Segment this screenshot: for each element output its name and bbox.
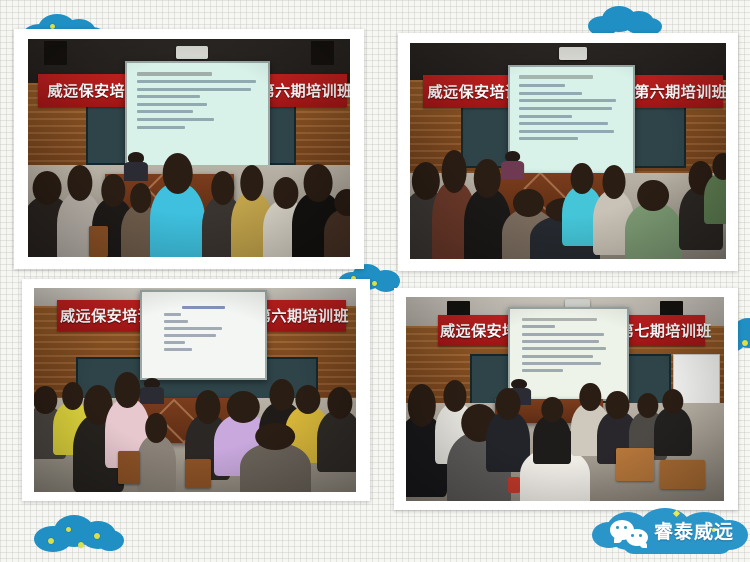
banner-right-bottom-left: 第六期培训班 <box>253 300 346 331</box>
audience-member <box>533 415 571 464</box>
projector <box>176 46 208 59</box>
photo-card-top-left[interactable]: 威远保安培训 第六期培训班 <box>14 29 364 269</box>
cloud-dot <box>372 281 377 286</box>
collage-canvas: 威远保安培训 第六期培训班 <box>0 0 750 562</box>
wechat-account-badge[interactable]: 睿泰威远 <box>592 508 750 556</box>
photo-image-top-left: 威远保安培训 第六期培训班 <box>28 39 350 257</box>
photo-image-bottom-right: 威远保安培训 第七期培训班 <box>406 297 724 501</box>
speaker-box <box>311 41 334 65</box>
projection-screen-top-right <box>508 65 635 179</box>
projection-screen-top-left <box>125 61 271 174</box>
cloud-dot <box>66 527 71 532</box>
projection-screen-bottom-left <box>140 290 266 380</box>
audience-member <box>317 410 356 471</box>
cloud-dot <box>742 340 748 346</box>
audience-member <box>137 435 176 492</box>
photo-card-top-right[interactable]: 威远保安培训 第六期培训班 <box>398 33 738 271</box>
presenter <box>505 151 521 177</box>
audience-member <box>654 407 692 456</box>
audience-member <box>240 443 311 492</box>
cloud-dot <box>78 542 84 548</box>
wechat-icon <box>610 520 650 546</box>
audience-member <box>704 173 726 225</box>
photo-card-bottom-left[interactable]: 威远保安培训 第六期培训班 <box>22 279 370 501</box>
banner-right-top-right: 第六期培训班 <box>631 75 722 107</box>
cloud-bottom-left-decoration <box>32 512 128 554</box>
audience-member <box>150 183 205 257</box>
thermos-cup <box>508 477 521 493</box>
projector <box>559 47 587 60</box>
presenter <box>143 378 159 402</box>
speaker-box <box>44 41 67 65</box>
photo-card-bottom-right[interactable]: 威远保安培训 第七期培训班 <box>394 288 738 510</box>
wechat-account-name: 睿泰威远 <box>654 517 734 544</box>
cloud-top-right-decoration <box>588 4 664 36</box>
presenter <box>128 152 144 178</box>
audience-member <box>625 203 682 259</box>
photo-image-top-right: 威远保安培训 第六期培训班 <box>410 43 726 259</box>
photo-image-bottom-left: 威远保安培训 第六期培训班 <box>34 288 356 492</box>
cloud-dot <box>94 533 100 539</box>
cloud-dot <box>48 538 54 544</box>
